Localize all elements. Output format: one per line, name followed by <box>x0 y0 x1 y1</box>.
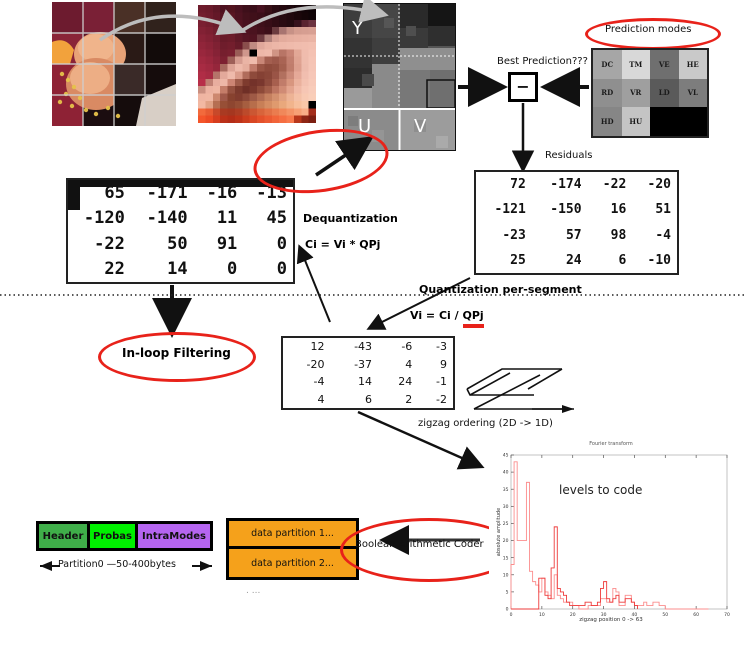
dequant-cell: 45 <box>243 206 293 232</box>
dequant-cell: 50 <box>131 231 194 257</box>
pred-mode-empty-2 <box>679 107 708 136</box>
levels-histogram-chart: Fourier transform 0102030405060700510152… <box>489 441 733 637</box>
partition0-block-intramodes[interactable]: IntraModes <box>138 524 210 548</box>
residual-cell: 24 <box>532 248 588 273</box>
pred-mode-ve[interactable]: VE <box>650 50 679 79</box>
chart-xlabel: zigzag position 0 -> 63 <box>489 617 733 623</box>
svg-text:20: 20 <box>503 538 509 544</box>
quant-cell: 6 <box>331 391 379 409</box>
quant-cell: 12 <box>283 338 331 356</box>
matrix-left-bar <box>68 180 80 210</box>
quant-cell: -6 <box>378 338 418 356</box>
pred-mode-hu[interactable]: HU <box>622 107 651 136</box>
residual-cell: 16 <box>588 197 633 222</box>
quant-cell: -4 <box>283 373 331 391</box>
dequant-cell: -22 <box>68 231 131 257</box>
chart-title: Fourier transform <box>489 441 733 447</box>
quantized-matrix: 12 -43 -6 -3 -20 -37 4 9 -4 14 24 -1 4 6… <box>281 336 455 410</box>
table-row: -121 -150 16 51 <box>476 197 677 222</box>
svg-text:15: 15 <box>503 555 509 561</box>
quant-cell: -37 <box>331 356 379 374</box>
dequant-cell: 14 <box>131 257 194 283</box>
svg-text:25: 25 <box>503 521 509 527</box>
quant-cell: 14 <box>331 373 379 391</box>
svg-text:45: 45 <box>503 453 509 459</box>
svg-text:35: 35 <box>503 487 509 493</box>
residual-cell: -174 <box>532 172 588 197</box>
residual-cell: 25 <box>476 248 532 273</box>
prediction-modes-grid[interactable]: DC TM VE HE RD VR LD VL HD HU <box>591 48 709 138</box>
quant-cell: 24 <box>378 373 418 391</box>
yuv-label-v: V <box>414 116 426 137</box>
table-row: -120 -140 11 45 <box>68 206 293 232</box>
residual-cell: 57 <box>532 223 588 248</box>
partition0-container: Header Probas IntraModes <box>36 521 213 551</box>
residuals-matrix: 72 -174 -22 -20 -121 -150 16 51 -23 57 9… <box>474 170 679 275</box>
residual-cell: 6 <box>588 248 633 273</box>
residual-cell: 51 <box>632 197 677 222</box>
macroblock-pixels <box>197 5 317 123</box>
svg-text:10: 10 <box>503 572 509 578</box>
quant-cell: -2 <box>418 391 453 409</box>
quant-cell: 2 <box>378 391 418 409</box>
table-row: -23 57 98 -4 <box>476 223 677 248</box>
quant-cell: -1 <box>418 373 453 391</box>
residual-cell: -4 <box>632 223 677 248</box>
quant-cell: -20 <box>283 356 331 374</box>
pred-mode-he[interactable]: HE <box>679 50 708 79</box>
yuv-label-y: Y <box>352 18 363 39</box>
table-row: -20 -37 4 9 <box>283 356 453 374</box>
best-prediction-label: Best Prediction??? <box>497 56 588 67</box>
dequant-cell: 0 <box>194 257 244 283</box>
residual-cell: -23 <box>476 223 532 248</box>
dequantized-matrix: 65 -171 -16 -13 -120 -140 11 45 -22 50 9… <box>66 178 295 284</box>
zigzag-ordering-label: zigzag ordering (2D -> 1D) <box>418 418 553 429</box>
pred-mode-ld[interactable]: LD <box>650 79 679 108</box>
quant-cell: 9 <box>418 356 453 374</box>
partition0-block-header[interactable]: Header <box>39 524 90 548</box>
dequant-cell: 0 <box>243 257 293 283</box>
yuv-block: Y U V <box>343 3 456 151</box>
pred-mode-vr[interactable]: VR <box>622 79 651 108</box>
data-partition-2[interactable]: data partition 2... <box>229 549 356 577</box>
pred-mode-hd[interactable]: HD <box>593 107 622 136</box>
data-partition-2-label: data partition 2... <box>251 558 334 569</box>
table-row: 4 6 2 -2 <box>283 391 453 409</box>
quant-formula-denominator: QPj <box>463 309 484 328</box>
pred-mode-vl[interactable]: VL <box>679 79 708 108</box>
residual-cell: 98 <box>588 223 633 248</box>
macroblock-zoom <box>197 5 317 123</box>
partition0-caption: Partition0 —50-400bytes <box>58 559 176 570</box>
pred-mode-dc[interactable]: DC <box>593 50 622 79</box>
chart-ylabel: absolute amplitude <box>496 492 502 572</box>
residual-cell: -121 <box>476 197 532 222</box>
residual-cell: -150 <box>532 197 588 222</box>
quant-cell: 4 <box>283 391 331 409</box>
inloop-filtering-label: In-loop Filtering <box>122 346 231 360</box>
quant-cell: 4 <box>378 356 418 374</box>
residual-cell: -20 <box>632 172 677 197</box>
table-row: 25 24 6 -10 <box>476 248 677 273</box>
pred-mode-rd[interactable]: RD <box>593 79 622 108</box>
table-row: -22 50 91 0 <box>68 231 293 257</box>
data-partitions-ellipsis: . ... <box>246 586 260 596</box>
data-partition-1-label: data partition 1... <box>251 528 334 539</box>
residual-cell: 72 <box>476 172 532 197</box>
quantization-label: Quantization per-segment <box>419 283 582 296</box>
zigzag-ordering-icon <box>462 365 577 413</box>
table-row: -4 14 24 -1 <box>283 373 453 391</box>
table-row: 22 14 0 0 <box>68 257 293 283</box>
table-row: 72 -174 -22 -20 <box>476 172 677 197</box>
chart-annotation: levels to code <box>559 483 642 497</box>
quantization-formula: Vi = Ci / QPj <box>410 309 484 322</box>
quant-cell: -3 <box>418 338 453 356</box>
dequant-cell: 91 <box>194 231 244 257</box>
dequant-cell: 22 <box>68 257 131 283</box>
residual-cell: -22 <box>588 172 633 197</box>
svg-text:40: 40 <box>503 470 509 476</box>
pred-mode-tm[interactable]: TM <box>622 50 651 79</box>
dequant-cell: -140 <box>131 206 194 232</box>
quant-formula-prefix: Vi = Ci / <box>410 309 463 322</box>
dequantization-formula: Ci = Vi * QPj <box>305 238 380 251</box>
dequantization-label: Dequantization <box>303 212 398 225</box>
table-row: 12 -43 -6 -3 <box>283 338 453 356</box>
data-partition-1[interactable]: data partition 1... <box>229 521 356 549</box>
prediction-modes-label: Prediction modes <box>605 24 691 35</box>
dequant-cell: 0 <box>243 231 293 257</box>
svg-text:5: 5 <box>506 589 509 595</box>
subtract-node: − <box>508 72 538 102</box>
residuals-label: Residuals <box>545 150 592 161</box>
boolean-coder-label: Boolean Arithmetic Coder <box>355 539 484 550</box>
quant-cell: -43 <box>331 338 379 356</box>
partition0-intramodes-label: IntraModes <box>142 531 206 542</box>
partition0-block-probas[interactable]: Probas <box>90 524 138 548</box>
source-frame-image <box>52 2 176 126</box>
dequant-cell: 11 <box>194 206 244 232</box>
partition0-header-label: Header <box>43 531 84 542</box>
chart-plot: 010203040506070051015202530354045 <box>489 441 733 637</box>
subtract-operator: − <box>516 79 529 95</box>
svg-text:0: 0 <box>506 607 509 613</box>
svg-text:30: 30 <box>503 504 509 510</box>
source-frame-macroblocks <box>52 2 176 126</box>
pred-mode-empty-1 <box>650 107 679 136</box>
residual-cell: -10 <box>632 248 677 273</box>
partition0-probas-label: Probas <box>93 531 132 542</box>
